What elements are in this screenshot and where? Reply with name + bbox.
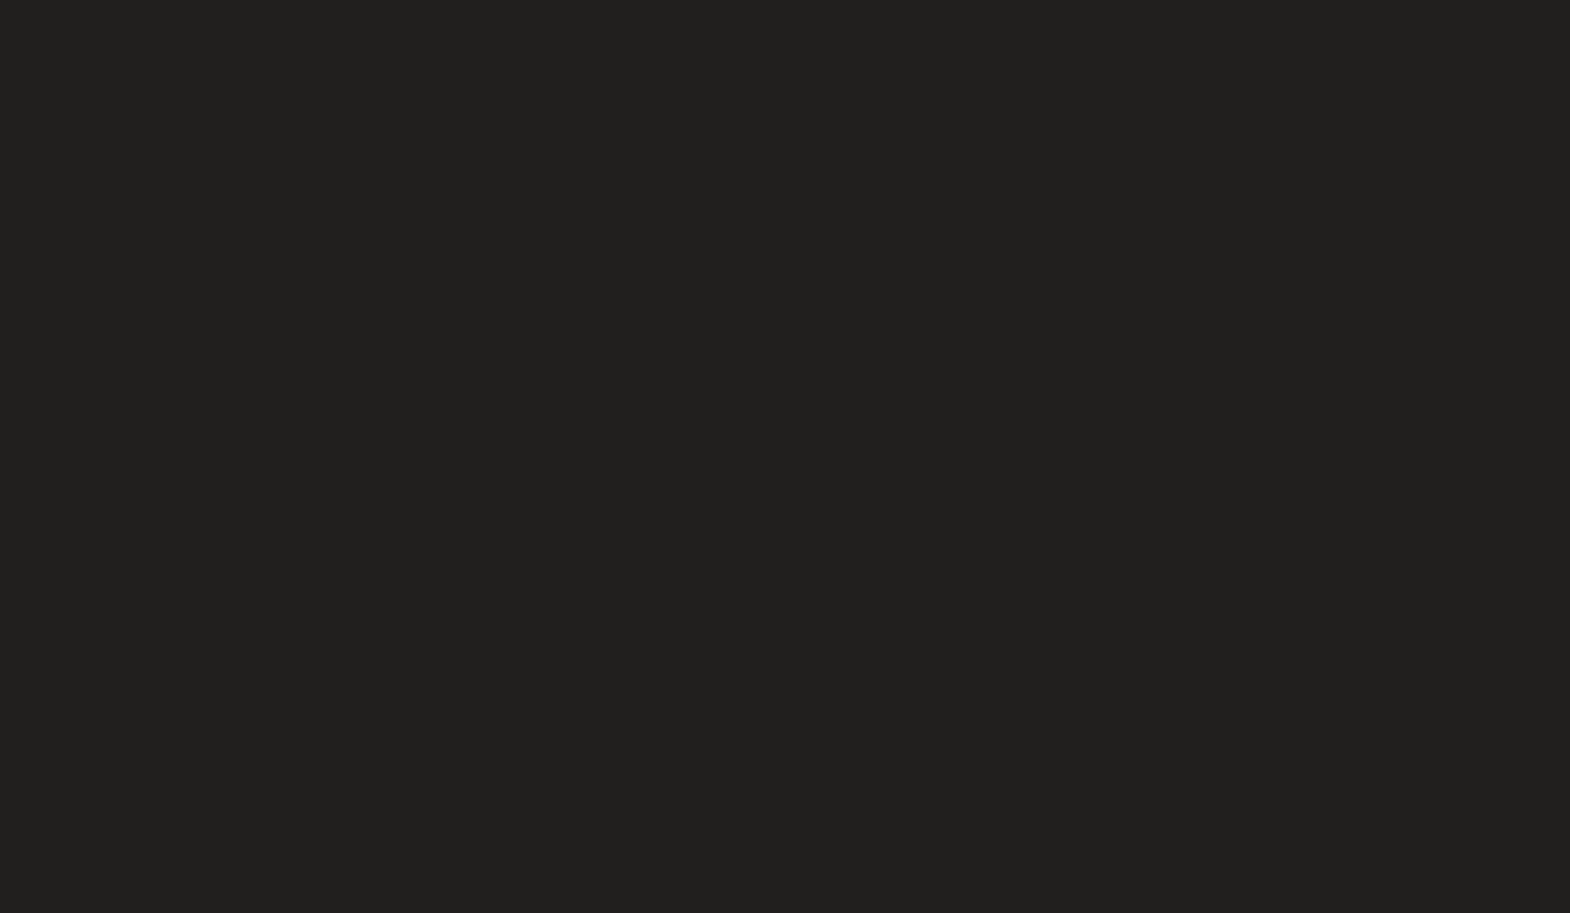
isotope-periodic-grid [0, 0, 1570, 913]
